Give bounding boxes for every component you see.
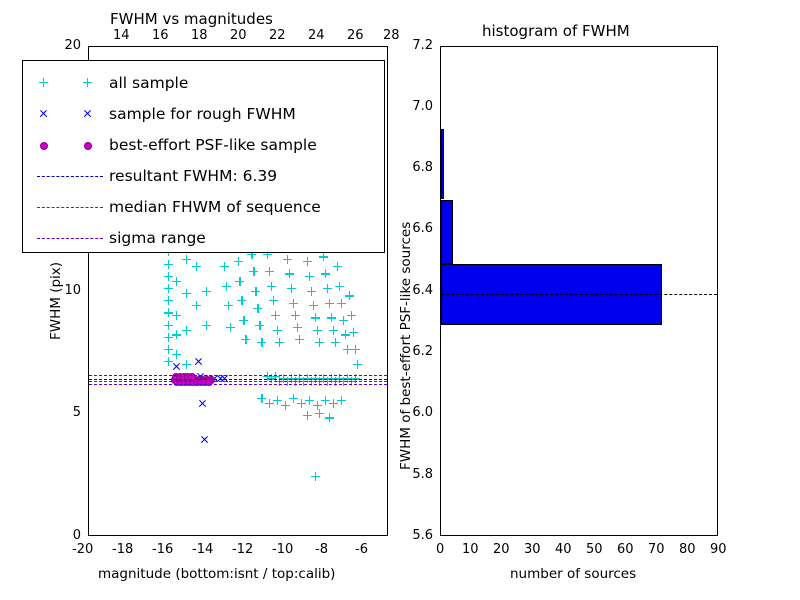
scatter-point (333, 262, 342, 271)
scatter-point (287, 284, 296, 293)
right-y-tick-5.6: 5.6 (403, 528, 433, 543)
scatter-point (351, 345, 360, 354)
legend-item-all-sample: all sample (31, 67, 376, 98)
right-x-tick-0: 0 (436, 542, 444, 557)
scatter-point (323, 284, 332, 293)
scatter-point (285, 269, 294, 278)
dashed-line-icon (37, 176, 103, 177)
legend-symbol-dot (31, 129, 109, 160)
scatter-point (257, 338, 266, 347)
scatter-point (325, 299, 334, 308)
legend-item-median-fwhm: median FHWM of sequence (31, 191, 376, 222)
left-top-tick-2: 18 (191, 28, 208, 43)
left-top-tick-4: 22 (269, 28, 286, 43)
scatter-point (226, 323, 235, 332)
scatter-point (239, 316, 248, 325)
legend-item-psf-like: best-effort PSF-like sample (31, 129, 376, 160)
legend-item-rough-fwhm: sample for rough FWHM (31, 98, 376, 129)
left-top-tick-5: 24 (308, 28, 325, 43)
legend-symbol-red-dashed (31, 191, 109, 222)
scatter-point (325, 413, 334, 422)
scatter-point (305, 272, 314, 281)
scatter-point (249, 267, 258, 276)
scatter-point (319, 252, 328, 261)
right-x-tick-60: 60 (617, 542, 634, 557)
scatter-point (315, 338, 324, 347)
scatter-point (224, 301, 233, 310)
scatter-point (331, 338, 340, 347)
scatter-point (241, 335, 250, 344)
legend-label-1: sample for rough FWHM (109, 105, 296, 123)
right-y-tick-6.8: 6.8 (403, 160, 433, 175)
scatter-point (303, 411, 312, 420)
right-x-tick-80: 80 (679, 542, 696, 557)
scatter-point (172, 330, 181, 339)
scatter-point (265, 267, 274, 276)
left-x-tick-4: -12 (232, 542, 253, 557)
legend-symbol-dashdot (31, 222, 109, 253)
scatter-point (349, 328, 358, 337)
right-x-tick-30: 30 (524, 542, 541, 557)
x-marker-icon (39, 109, 48, 118)
left-x-tick-3: -14 (192, 542, 213, 557)
reference-line (89, 375, 387, 376)
plus-icon (83, 78, 92, 87)
scatter-point (327, 313, 336, 322)
scatter-point (164, 296, 173, 305)
right-x-tick-40: 40 (555, 542, 572, 557)
scatter-point (273, 326, 282, 335)
left-x-tick-0: -20 (72, 542, 93, 557)
scatter-point (198, 399, 207, 408)
scatter-point (329, 326, 338, 335)
scatter-point (182, 255, 191, 264)
scatter-point (283, 255, 292, 264)
left-x-tick-7: -6 (355, 542, 368, 557)
figure-canvas: FWHM vs magnitudes 14 16 18 20 22 24 26 … (0, 0, 800, 600)
histogram-bar (441, 200, 453, 264)
scatter-point (289, 299, 298, 308)
reference-line (89, 381, 387, 382)
reference-line (89, 384, 387, 385)
legend-item-sigma-range: sigma range (31, 222, 376, 253)
scatter-point (311, 313, 320, 322)
scatter-point (303, 257, 312, 266)
right-y-tick-7.0: 7.0 (403, 99, 433, 114)
scatter-point (172, 277, 181, 286)
right-x-axis-label: number of sources (510, 566, 636, 582)
left-top-tick-0: 14 (113, 28, 130, 43)
legend-symbol-plus (31, 67, 109, 98)
scatter-point (269, 296, 278, 305)
scatter-point (313, 326, 322, 335)
left-y-tick-5: 5 (57, 405, 81, 420)
legend-item-resultant-fwhm: resultant FWHM: 6.39 (31, 160, 376, 191)
right-y-tick-7.2: 7.2 (403, 38, 433, 53)
scatter-point (220, 262, 229, 271)
scatter-point (353, 360, 362, 369)
right-x-tick-90: 90 (710, 542, 727, 557)
scatter-point (291, 311, 300, 320)
scatter-point (182, 289, 191, 298)
scatter-point (321, 269, 330, 278)
legend-label-3: resultant FWHM: 6.39 (109, 167, 277, 185)
reference-line (89, 379, 387, 380)
scatter-point (164, 321, 173, 330)
plus-icon (39, 78, 48, 87)
scatter-point (337, 396, 346, 405)
right-x-tick-50: 50 (586, 542, 603, 557)
left-x-tick-5: -10 (272, 542, 293, 557)
right-x-tick-10: 10 (462, 542, 479, 557)
scatter-point (192, 301, 201, 310)
scatter-point (347, 311, 356, 320)
left-x-tick-6: -8 (315, 542, 328, 557)
circle-marker-icon (40, 142, 48, 150)
left-x-tick-2: -16 (152, 542, 173, 557)
legend-box: all sample sample for rough FWHM best-ef… (22, 60, 385, 253)
right-histogram-plot[interactable] (440, 46, 718, 536)
scatter-point (200, 435, 209, 444)
scatter-point (267, 282, 276, 291)
scatter-point (164, 260, 173, 269)
scatter-point (182, 360, 191, 369)
scatter-point (235, 277, 244, 286)
scatter-point (275, 338, 284, 347)
right-x-tick-70: 70 (648, 542, 665, 557)
scatter-point (202, 287, 211, 296)
scatter-point (293, 323, 302, 332)
scatter-point (172, 311, 181, 320)
left-x-tick-1: -18 (112, 542, 133, 557)
scatter-point (172, 362, 181, 371)
histogram-bar (441, 129, 444, 199)
circle-marker-icon (84, 142, 92, 150)
legend-label-5: sigma range (109, 229, 206, 247)
scatter-point (172, 350, 181, 359)
left-top-tick-7: 28 (383, 28, 400, 43)
scatter-point (307, 287, 316, 296)
scatter-point (271, 311, 280, 320)
dashdot-line-icon (37, 238, 103, 239)
scatter-point (192, 262, 201, 271)
scatter-point (234, 257, 243, 266)
scatter-point (255, 321, 264, 330)
scatter-point (251, 287, 260, 296)
left-y-tick-20: 20 (57, 38, 81, 53)
legend-symbol-blue-dashed (31, 160, 109, 191)
dashed-line-icon (37, 207, 103, 208)
left-y-tick-0: 0 (57, 528, 81, 543)
left-plot-title: FWHM vs magnitudes (110, 10, 273, 28)
scatter-point (237, 296, 246, 305)
scatter-point (253, 304, 262, 313)
legend-label-4: median FHWM of sequence (109, 198, 321, 216)
scatter-point (182, 326, 191, 335)
scatter-point (202, 321, 211, 330)
scatter-point (295, 335, 304, 344)
scatter-point (311, 472, 320, 481)
left-y-axis-label: FWHM (pix) (48, 262, 64, 340)
x-marker-icon (83, 109, 92, 118)
left-top-tick-3: 20 (230, 28, 247, 43)
reference-line (441, 294, 717, 295)
legend-symbol-x (31, 98, 109, 129)
scatter-point (309, 301, 318, 310)
scatter-point (335, 282, 344, 291)
left-top-tick-6: 26 (347, 28, 364, 43)
scatter-point (345, 291, 354, 300)
legend-label-0: all sample (109, 74, 188, 92)
left-x-axis-label: magnitude (bottom:isnt / top:calib) (98, 566, 335, 582)
scatter-point (222, 282, 231, 291)
scatter-point (315, 409, 324, 418)
right-x-tick-20: 20 (493, 542, 510, 557)
right-plot-title: histogram of FWHM (482, 22, 630, 40)
right-y-axis-label: FWHM of best-effort PSF-like sources (398, 222, 414, 470)
scatter-point (194, 357, 203, 366)
legend-label-2: best-effort PSF-like sample (109, 136, 317, 154)
left-top-tick-1: 16 (152, 28, 169, 43)
